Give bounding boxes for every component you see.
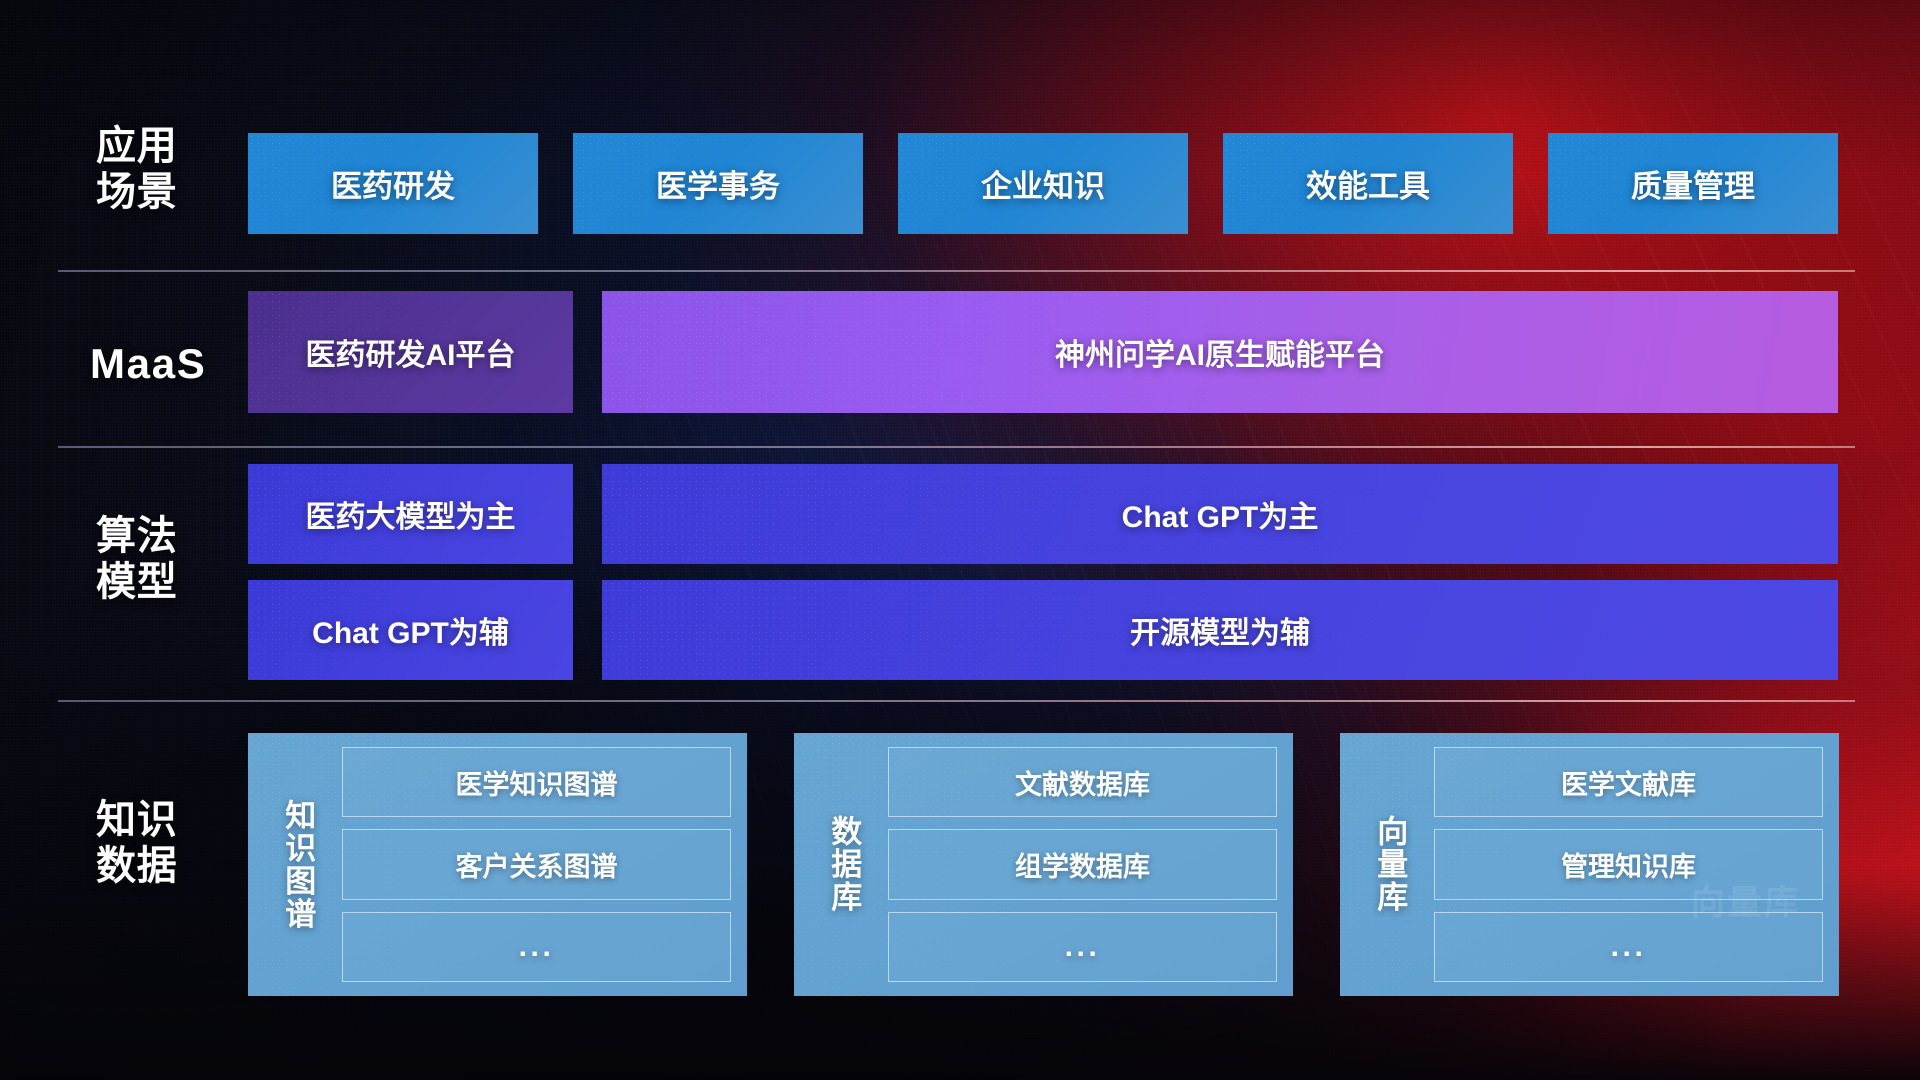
knowledge-item[interactable]: 医学文献库 xyxy=(1434,747,1823,817)
algorithm-card-opensource-aux[interactable]: 开源模型为辅 xyxy=(602,580,1838,680)
knowledge-group-vector-store[interactable]: 向量库 向量库 医学文献库 管理知识库 ... xyxy=(1340,733,1839,996)
knowledge-item[interactable]: 管理知识库 xyxy=(1434,829,1823,899)
maas-card-pharma-platform-label: 医药研发AI平台 xyxy=(306,330,516,374)
row-label-application: 应用 场景 xyxy=(96,123,178,216)
application-card-5[interactable]: 质量管理 xyxy=(1548,133,1838,234)
knowledge-group-knowledge-graph[interactable]: 知识图谱 医学知识图谱 客户关系图谱 ... xyxy=(248,733,747,996)
application-card-4-label: 效能工具 xyxy=(1306,161,1430,206)
knowledge-item-more[interactable]: ... xyxy=(888,912,1277,982)
algorithm-card-pharma-main-label: 医药大模型为主 xyxy=(306,492,516,536)
knowledge-group-database[interactable]: 数据库 文献数据库 组学数据库 ... xyxy=(794,733,1293,996)
row-label-knowledge: 知识 数据 xyxy=(96,797,178,890)
algorithm-card-chatgpt-aux-label: Chat GPT为辅 xyxy=(312,608,509,652)
algorithm-card-chatgpt-main-label: Chat GPT为主 xyxy=(1122,492,1319,536)
knowledge-group-database-title: 数据库 xyxy=(808,747,878,982)
application-card-1-label: 医药研发 xyxy=(331,161,455,206)
maas-card-shenzhou-platform[interactable]: 神州问学AI原生赋能平台 xyxy=(602,291,1838,413)
application-card-5-label: 质量管理 xyxy=(1631,161,1755,206)
application-card-3[interactable]: 企业知识 xyxy=(898,133,1188,234)
knowledge-item[interactable]: 医学知识图谱 xyxy=(342,747,731,817)
row-label-algorithm: 算法 模型 xyxy=(96,513,178,606)
knowledge-item[interactable]: 组学数据库 xyxy=(888,829,1277,899)
knowledge-group-vector-store-title: 向量库 xyxy=(1354,747,1424,982)
knowledge-item[interactable]: 文献数据库 xyxy=(888,747,1277,817)
algorithm-card-opensource-aux-label: 开源模型为辅 xyxy=(1130,608,1310,652)
slide-canvas: 应用 场景 医药研发 医学事务 企业知识 效能工具 质量管理 MaaS 医药研发… xyxy=(0,0,1920,1080)
algorithm-card-chatgpt-aux[interactable]: Chat GPT为辅 xyxy=(248,580,573,680)
knowledge-group-knowledge-graph-title: 知识图谱 xyxy=(262,747,332,982)
architecture-diagram: 应用 场景 医药研发 医学事务 企业知识 效能工具 质量管理 MaaS 医药研发… xyxy=(0,0,1920,1080)
maas-card-shenzhou-platform-label: 神州问学AI原生赋能平台 xyxy=(1055,330,1385,374)
application-card-2[interactable]: 医学事务 xyxy=(573,133,863,234)
divider-application-maas xyxy=(58,270,1855,272)
application-card-1[interactable]: 医药研发 xyxy=(248,133,538,234)
application-card-4[interactable]: 效能工具 xyxy=(1223,133,1513,234)
maas-card-pharma-platform[interactable]: 医药研发AI平台 xyxy=(248,291,573,413)
knowledge-item-more[interactable]: ... xyxy=(1434,912,1823,982)
application-card-2-label: 医学事务 xyxy=(656,161,780,206)
knowledge-item[interactable]: 客户关系图谱 xyxy=(342,829,731,899)
algorithm-card-pharma-main[interactable]: 医药大模型为主 xyxy=(248,464,573,564)
divider-algorithm-knowledge xyxy=(58,700,1855,702)
algorithm-card-chatgpt-main[interactable]: Chat GPT为主 xyxy=(602,464,1838,564)
knowledge-group-database-items: 文献数据库 组学数据库 ... xyxy=(878,747,1277,982)
divider-maas-algorithm xyxy=(58,446,1855,448)
knowledge-group-knowledge-graph-items: 医学知识图谱 客户关系图谱 ... xyxy=(332,747,731,982)
knowledge-group-vector-store-items: 医学文献库 管理知识库 ... xyxy=(1424,747,1823,982)
knowledge-item-more[interactable]: ... xyxy=(342,912,731,982)
application-card-3-label: 企业知识 xyxy=(981,161,1105,206)
row-label-maas: MaaS xyxy=(90,340,206,389)
